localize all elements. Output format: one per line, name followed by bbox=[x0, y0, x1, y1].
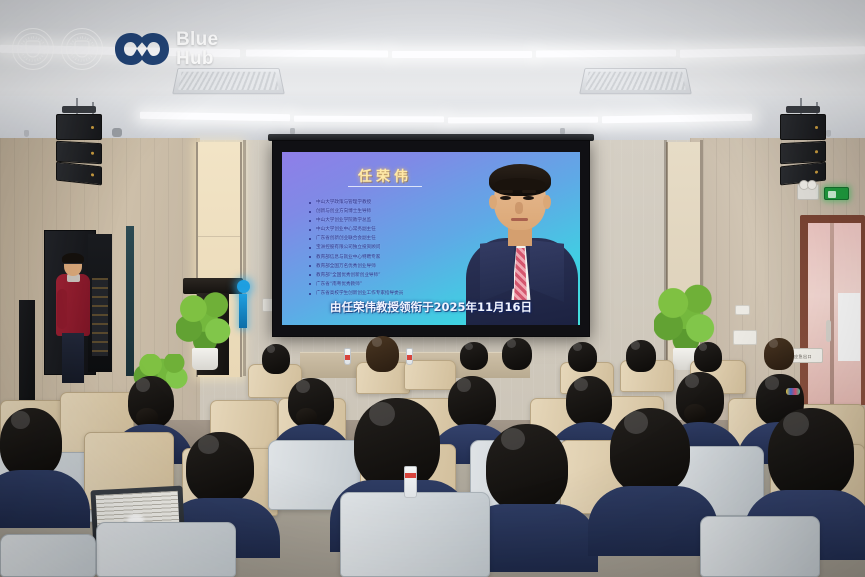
air-conditioner-vent bbox=[172, 68, 285, 94]
slide-bullet-item: 教育部“全国优秀创新创业导师” bbox=[308, 271, 476, 280]
audience-head bbox=[764, 338, 794, 370]
speaker-fly-bar bbox=[786, 106, 820, 113]
bluehub-mark-icon bbox=[114, 28, 170, 70]
water-bottle bbox=[406, 348, 413, 365]
speaker-fly-bar bbox=[62, 106, 96, 113]
university-emblem-icon bbox=[12, 28, 54, 70]
technician-arm bbox=[57, 289, 67, 329]
portrait-eye bbox=[523, 196, 534, 200]
audience-shoulders bbox=[588, 486, 718, 556]
ceiling-light-strip bbox=[392, 51, 532, 58]
slide-bullet-item: 广东省“南粤优秀教师” bbox=[308, 280, 476, 289]
audience-head bbox=[186, 432, 254, 504]
portrait-ear bbox=[543, 195, 551, 209]
portrait-eyebrow bbox=[499, 190, 513, 193]
audience-head bbox=[502, 338, 532, 370]
bluehub-word-line1: Blue bbox=[176, 30, 218, 49]
wall-groove bbox=[243, 140, 246, 376]
slide-bullet-item: 广东省创新创业联合会副主任 bbox=[308, 234, 476, 243]
plant-pot bbox=[192, 348, 218, 370]
audience-head bbox=[354, 398, 440, 490]
audience-head bbox=[566, 376, 612, 426]
air-conditioner-vent bbox=[579, 68, 692, 94]
seat-back bbox=[700, 516, 820, 577]
audience-head bbox=[610, 408, 690, 494]
seat-back bbox=[404, 360, 456, 390]
door-mullion bbox=[830, 223, 834, 405]
university-emblem-icon bbox=[61, 28, 103, 70]
audience-head bbox=[262, 344, 290, 374]
slide-bullet-item: 宝洲控股有限公司独立投资顾问 bbox=[308, 243, 476, 252]
door-handle[interactable] bbox=[826, 320, 831, 342]
lectern-accent-light bbox=[239, 294, 247, 328]
slide-bullet-item: 中山大学创业学院教学总监 bbox=[308, 216, 476, 225]
lecture-hall-photo: 应急出口 任荣伟 中山大学政策与管理学教授创新与创业方向博士生导师中山大学创业学… bbox=[0, 0, 865, 577]
portrait-ear bbox=[489, 195, 497, 209]
slide-bullet-item: 创新与创业方向博士生导师 bbox=[308, 207, 476, 216]
speaker-box bbox=[56, 114, 102, 140]
speaker-box bbox=[56, 141, 102, 164]
slide-title-underline bbox=[348, 186, 422, 187]
audience-head bbox=[768, 408, 854, 500]
speaker-box bbox=[780, 114, 826, 140]
hair-clip bbox=[786, 388, 800, 395]
bluehub-wordmark: Blue Hub bbox=[176, 30, 218, 68]
entry-door[interactable] bbox=[800, 215, 865, 405]
slide-bullet-item: 广东省高校学生创新创业工作专家指导委员 bbox=[308, 289, 476, 298]
slide-bullet-item: 中山大学政策与管理学教授 bbox=[308, 198, 476, 207]
portrait-eyebrow bbox=[522, 190, 536, 193]
audience-head bbox=[0, 408, 62, 478]
ceiling bbox=[0, 0, 865, 150]
emblem-ring bbox=[69, 36, 95, 62]
ceiling-light-strip bbox=[680, 46, 865, 58]
portrait-eye bbox=[500, 196, 511, 200]
seat-back bbox=[340, 492, 490, 577]
plant-foliage bbox=[176, 290, 234, 352]
slide-title: 任荣伟 bbox=[310, 166, 460, 186]
ceiling-camera bbox=[112, 128, 122, 137]
exit-sign bbox=[824, 187, 849, 200]
ceiling-light-strip bbox=[246, 50, 388, 58]
standing-technician bbox=[56, 255, 90, 383]
eyeglasses-icon bbox=[64, 263, 82, 267]
slide-canvas: 任荣伟 中山大学政策与管理学教授创新与创业方向博士生导师中山大学创业学院教学总监… bbox=[282, 152, 580, 325]
portrait-nose bbox=[515, 202, 523, 214]
speaker-box bbox=[780, 141, 826, 164]
projection-screen: 任荣伟 中山大学政策与管理学教授创新与创业方向博士生导师中山大学创业学院教学总监… bbox=[272, 140, 590, 337]
wall-outlet-plate[interactable] bbox=[733, 330, 757, 345]
watermark-logo-group: Blue Hub bbox=[12, 28, 218, 70]
seat-back bbox=[0, 534, 96, 577]
slide-bullet-list: 中山大学政策与管理学教授创新与创业方向博士生导师中山大学创业学院教学总监中山大学… bbox=[308, 198, 476, 298]
audience-head bbox=[486, 424, 568, 512]
ceiling-light-strip bbox=[294, 116, 444, 123]
ceiling-light-strip bbox=[536, 50, 676, 58]
seat-back bbox=[96, 522, 236, 577]
bluehub-logo: Blue Hub bbox=[114, 28, 218, 70]
emblem-ring bbox=[20, 36, 46, 62]
audience-head bbox=[366, 336, 399, 372]
wall-switch-plate[interactable] bbox=[735, 305, 750, 315]
slide-bullet-item: 教育部全国万名优秀创业导师 bbox=[308, 262, 476, 271]
portrait-mouth bbox=[511, 218, 528, 221]
audience-head bbox=[448, 376, 496, 428]
bluehub-word-line2: Hub bbox=[176, 49, 218, 68]
audience-head bbox=[460, 342, 488, 370]
water-bottle bbox=[404, 466, 417, 498]
av-rack-open-bay bbox=[88, 234, 112, 372]
audience-head bbox=[626, 340, 656, 372]
lectern-accent-light bbox=[237, 280, 250, 293]
sprinkler-head bbox=[826, 130, 831, 137]
ceiling-light-strip bbox=[448, 117, 598, 124]
slide-caption: 由任荣伟教授领衔于2025年11月16日 bbox=[282, 299, 580, 315]
audience-hair-bun bbox=[684, 404, 706, 422]
door-pane bbox=[838, 293, 860, 361]
water-bottle bbox=[344, 348, 351, 365]
technician-legs bbox=[62, 333, 84, 383]
slide-bullet-item: 中山大学创业中心常务副主任 bbox=[308, 225, 476, 234]
sprinkler-head bbox=[24, 130, 29, 137]
audience-head bbox=[568, 342, 597, 372]
emergency-light bbox=[797, 184, 819, 200]
slide-bullet-item: 教育部信息与就业中心特聘专家 bbox=[308, 253, 476, 262]
audience-head bbox=[694, 342, 722, 372]
audience-hair-bun bbox=[296, 408, 317, 425]
